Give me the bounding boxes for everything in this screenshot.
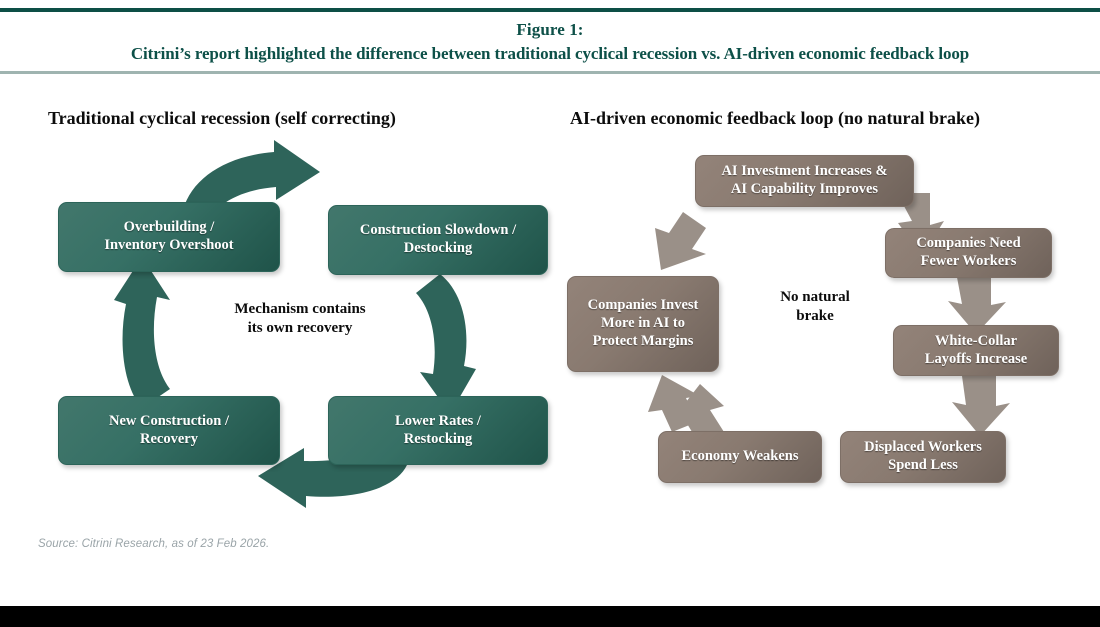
node-new-construction-line1: New Construction / (109, 413, 229, 429)
arrow-layoffs-to-displaced-workers (952, 376, 1010, 436)
arrow-new-construction-to-overbuilding (114, 257, 170, 408)
arrow-companies-invest-to-ai-investment (655, 212, 706, 270)
node-ai-investment-line1: AI Investment Increases & (721, 163, 887, 179)
node-lower-rates-line1: Lower Rates / (395, 413, 481, 429)
node-displaced-workers-line2: Spend Less (888, 457, 958, 473)
node-companies-invest-line3: Protect Margins (593, 333, 694, 349)
centre-note-left-line1: Mechanism contains (234, 301, 365, 317)
node-new-construction-line2: Recovery (140, 431, 198, 447)
footer-bar (0, 606, 1100, 627)
header-rule-top (0, 8, 1100, 12)
figure-label: Figure 1: (0, 19, 1100, 41)
node-fewer-workers-label: Companies Need Fewer Workers (916, 235, 1020, 270)
node-overbuilding[interactable]: Overbuilding / Inventory Overshoot (58, 202, 280, 272)
centre-note-right-line1: No natural (780, 289, 850, 305)
node-white-collar-layoffs-line1: White-Collar (935, 333, 1017, 349)
node-displaced-workers-label: Displaced Workers Spend Less (864, 439, 982, 474)
node-companies-invest-label: Companies Invest More in AI to Protect M… (588, 297, 699, 350)
node-lower-rates-line2: Restocking (404, 431, 472, 447)
node-construction-slowdown-label: Construction Slowdown / Destocking (360, 222, 516, 257)
node-displaced-workers[interactable]: Displaced Workers Spend Less (840, 431, 1006, 483)
node-ai-investment[interactable]: AI Investment Increases & AI Capability … (695, 155, 914, 207)
centre-note-right-line2: brake (796, 308, 834, 324)
node-displaced-workers-line1: Displaced Workers (864, 439, 982, 455)
figure-page: Figure 1: Citrini’s report highlighted t… (0, 0, 1100, 627)
node-white-collar-layoffs-label: White-Collar Layoffs Increase (925, 333, 1027, 368)
figure-caption: Citrini’s report highlighted the differe… (0, 43, 1100, 65)
node-white-collar-layoffs-line2: Layoffs Increase (925, 351, 1027, 367)
node-new-construction[interactable]: New Construction / Recovery (58, 396, 280, 465)
node-overbuilding-label: Overbuilding / Inventory Overshoot (104, 219, 233, 254)
source-note: Source: Citrini Research, as of 23 Feb 2… (38, 538, 269, 550)
node-overbuilding-line1: Overbuilding / (124, 219, 215, 235)
node-economy-weakens[interactable]: Economy Weakens (658, 431, 822, 483)
node-fewer-workers-line1: Companies Need (916, 235, 1020, 251)
node-companies-invest[interactable]: Companies Invest More in AI to Protect M… (567, 276, 719, 372)
node-new-construction-label: New Construction / Recovery (109, 413, 229, 448)
header-rule-bottom (0, 71, 1100, 74)
node-ai-investment-line2: AI Capability Improves (731, 181, 878, 197)
arrow-economy-weakens-to-companies-invest (648, 375, 700, 432)
centre-note-left-line2: its own recovery (248, 320, 353, 336)
node-construction-slowdown-line1: Construction Slowdown / (360, 222, 516, 238)
node-overbuilding-line2: Inventory Overshoot (104, 237, 233, 253)
centre-note-left: Mechanism contains its own recovery (195, 300, 405, 338)
panel-heading-left: Traditional cyclical recession (self cor… (48, 108, 396, 129)
node-companies-invest-line1: Companies Invest (588, 297, 699, 313)
node-ai-investment-label: AI Investment Increases & AI Capability … (721, 163, 887, 198)
node-fewer-workers[interactable]: Companies Need Fewer Workers (885, 228, 1052, 278)
panel-heading-right: AI-driven economic feedback loop (no nat… (570, 108, 980, 129)
node-fewer-workers-line2: Fewer Workers (921, 253, 1017, 269)
node-construction-slowdown[interactable]: Construction Slowdown / Destocking (328, 205, 548, 275)
figure-title-block: Figure 1: Citrini’s report highlighted t… (0, 19, 1100, 65)
centre-note-right: No natural brake (740, 288, 890, 326)
node-lower-rates[interactable]: Lower Rates / Restocking (328, 396, 548, 465)
node-white-collar-layoffs[interactable]: White-Collar Layoffs Increase (893, 325, 1059, 376)
node-economy-weakens-label: Economy Weakens (682, 448, 799, 466)
node-companies-invest-line2: More in AI to (601, 315, 685, 331)
arrow-construction-to-lower-rates (416, 274, 476, 414)
cycle-arrows-layer (0, 0, 1100, 627)
node-lower-rates-label: Lower Rates / Restocking (395, 413, 481, 448)
node-construction-slowdown-line2: Destocking (404, 240, 472, 256)
